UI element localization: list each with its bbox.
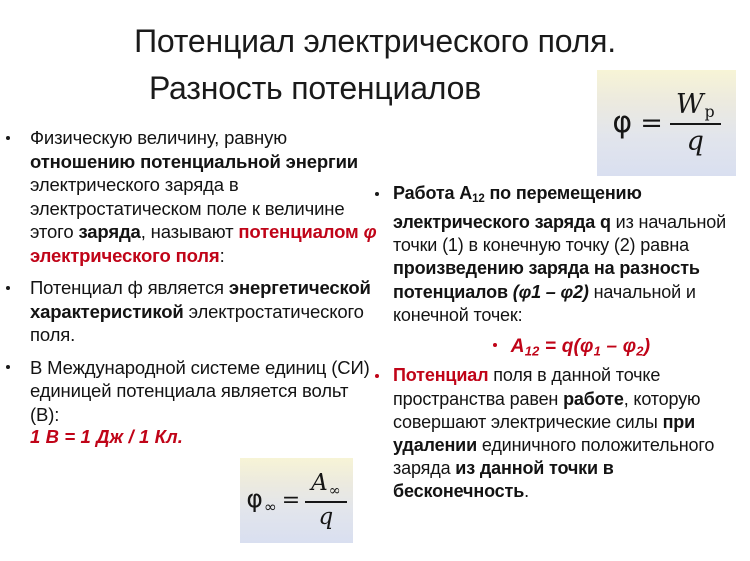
- right-text-column: Работа A12 по перемещению электрического…: [369, 182, 750, 513]
- text-run: :: [220, 245, 225, 266]
- text-run: .: [524, 481, 529, 501]
- text-run: заряда: [78, 221, 140, 242]
- text-run: Потенциал: [393, 365, 488, 385]
- formula-phi-infinity-denominator: q: [313, 505, 340, 530]
- text-run: Работа A: [393, 183, 472, 203]
- bullet-text: Потенциал ф является энергетической хара…: [30, 276, 378, 347]
- list-item-potential-equals-work: Потенциал поля в данной точке пространст…: [369, 364, 750, 503]
- text-run: работе: [563, 389, 624, 409]
- text-run: потенциалом: [238, 221, 363, 242]
- formula-phi-denominator: q: [681, 127, 710, 156]
- formula-phi-lhs: φ: [612, 108, 632, 138]
- list-item-definition-of-potential: Физическую величину, равную отношению по…: [0, 126, 378, 267]
- text-run: , называют: [141, 221, 239, 242]
- title-line-1: Потенциал электрического поля.: [0, 18, 750, 65]
- formula-card-potential: φ = Wp q: [597, 70, 736, 176]
- formula-phi-infinity-equals: =: [282, 490, 300, 512]
- formula-work-equation: A12 = q(φ1 – φ2): [511, 336, 650, 357]
- text-run: Потенциал ф является: [30, 277, 229, 298]
- formula-phi-infinity-equation: φ∞ = A∞ q: [246, 471, 346, 530]
- text-run: В Международной системе единиц (СИ) един…: [30, 357, 370, 425]
- bullet-text: В Международной системе единиц (СИ) един…: [30, 356, 378, 427]
- formula-phi-equation: φ = Wp q: [612, 90, 720, 156]
- formula-phi-numerator: Wp: [670, 90, 721, 121]
- text-run: Физическую величину, равную: [30, 127, 287, 148]
- formula-card-potential-infinity: φ∞ = A∞ q: [240, 458, 353, 543]
- bullet-dot-icon: [375, 374, 379, 378]
- formula-work-equation-line: A12 = q(φ1 – φ2): [369, 336, 750, 358]
- formula-phi-infinity-numerator-subscript: ∞: [328, 483, 341, 499]
- bullet-text: Потенциал поля в данной точке пространст…: [393, 364, 750, 503]
- text-run: электрического поля: [30, 245, 220, 266]
- formula-phi-infinity-fraction-bar: [305, 501, 347, 503]
- bullet-text: Работа A12 по перемещению электрического…: [393, 182, 750, 327]
- formula-phi-fraction: Wp q: [670, 90, 721, 156]
- formula-phi-numerator-subscript: p: [704, 102, 715, 121]
- bullet-dot-icon: [6, 136, 10, 140]
- text-run: 12: [472, 193, 485, 205]
- bullet-dot-icon: [6, 365, 10, 369]
- bullet-dot-icon: [375, 192, 379, 196]
- bullet-text: Физическую величину, равную отношению по…: [30, 126, 378, 267]
- bullet-dot-icon: [493, 343, 497, 347]
- slide-canvas: Потенциал электрического поля. Разность …: [0, 0, 750, 561]
- formula-phi-infinity-numerator: A∞: [305, 471, 347, 499]
- left-text-column: Физическую величину, равную отношению по…: [0, 126, 378, 457]
- bullet-dot-icon: [6, 286, 10, 290]
- unit-equation-volt: 1 В = 1 Дж / 1 Кл.: [30, 426, 378, 448]
- formula-phi-equals: =: [640, 110, 663, 137]
- formula-phi-infinity-subscript: ∞: [263, 498, 277, 516]
- text-run: отношению потенциальной энергии: [30, 151, 358, 172]
- formula-phi-infinity-fraction: A∞ q: [305, 471, 347, 530]
- list-item-si-unit-volt: В Международной системе единиц (СИ) един…: [0, 356, 378, 449]
- formula-phi-fraction-bar: [670, 123, 721, 125]
- formula-phi-infinity-lhs: φ∞: [246, 486, 276, 515]
- list-item-work-moving-charge: Работа A12 по перемещению электрического…: [369, 182, 750, 327]
- list-item-energy-characteristic: Потенциал ф является энергетической хара…: [0, 276, 378, 347]
- text-run: (φ1 – φ2): [513, 282, 589, 302]
